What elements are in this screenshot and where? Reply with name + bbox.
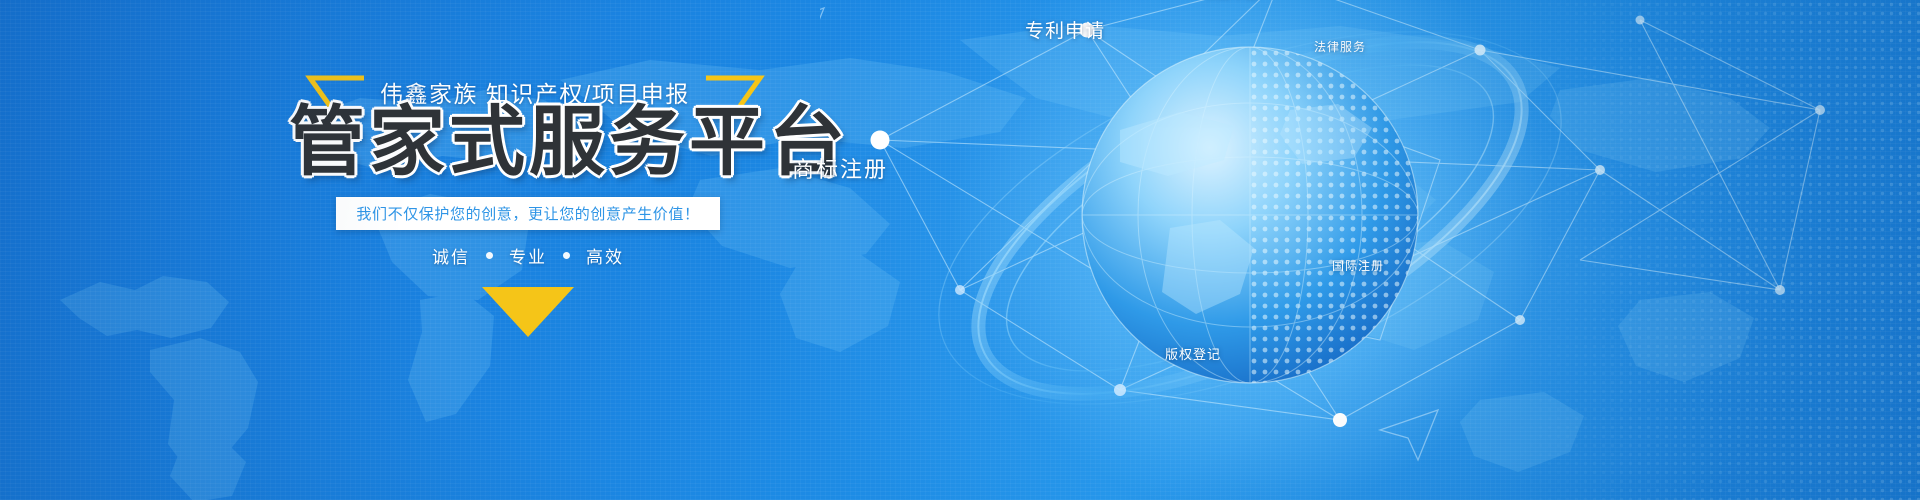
globe-label-trademark: 商标注册 <box>792 152 888 184</box>
tagline-box: 我们不仅保护您的创意，更让您的创意产生价值！ <box>336 197 720 230</box>
chevron-down-icon <box>478 283 578 341</box>
globe-label-international: 国际注册 <box>1332 257 1384 274</box>
globe-label-patent: 专利申请 <box>1025 16 1105 43</box>
hero-banner: 伟鑫家族 知识产权/项目申报 管家式服务平台 我们不仅保护您的创意，更让您的创意… <box>0 0 1920 500</box>
keyword-item: 诚信 <box>432 243 470 268</box>
globe-graphic: 专利申请 项目申报 法律服务 商标注册 国际注册 版权登记 <box>820 0 1920 500</box>
banner-main-title: 管家式服务平台 <box>289 105 789 181</box>
hero-text-block: 伟鑫家族 知识产权/项目申报 管家式服务平台 我们不仅保护您的创意，更让您的创意… <box>0 0 820 500</box>
keyword-item: 高效 <box>586 243 624 268</box>
globe-label-legal: 法律服务 <box>1314 38 1366 55</box>
globe-label-copyright: 版权登记 <box>1165 344 1221 363</box>
keyword-item: 专业 <box>509 243 547 268</box>
keyword-row: 诚信 专业 高效 <box>336 242 720 268</box>
tagline-text: 我们不仅保护您的创意，更让您的创意产生价值！ <box>356 203 699 224</box>
globe-svg <box>820 0 1920 500</box>
globe-label-project: 项目申报 <box>1204 0 1260 1</box>
keyword-separator-dot <box>486 252 493 259</box>
keyword-separator-dot <box>563 252 570 259</box>
